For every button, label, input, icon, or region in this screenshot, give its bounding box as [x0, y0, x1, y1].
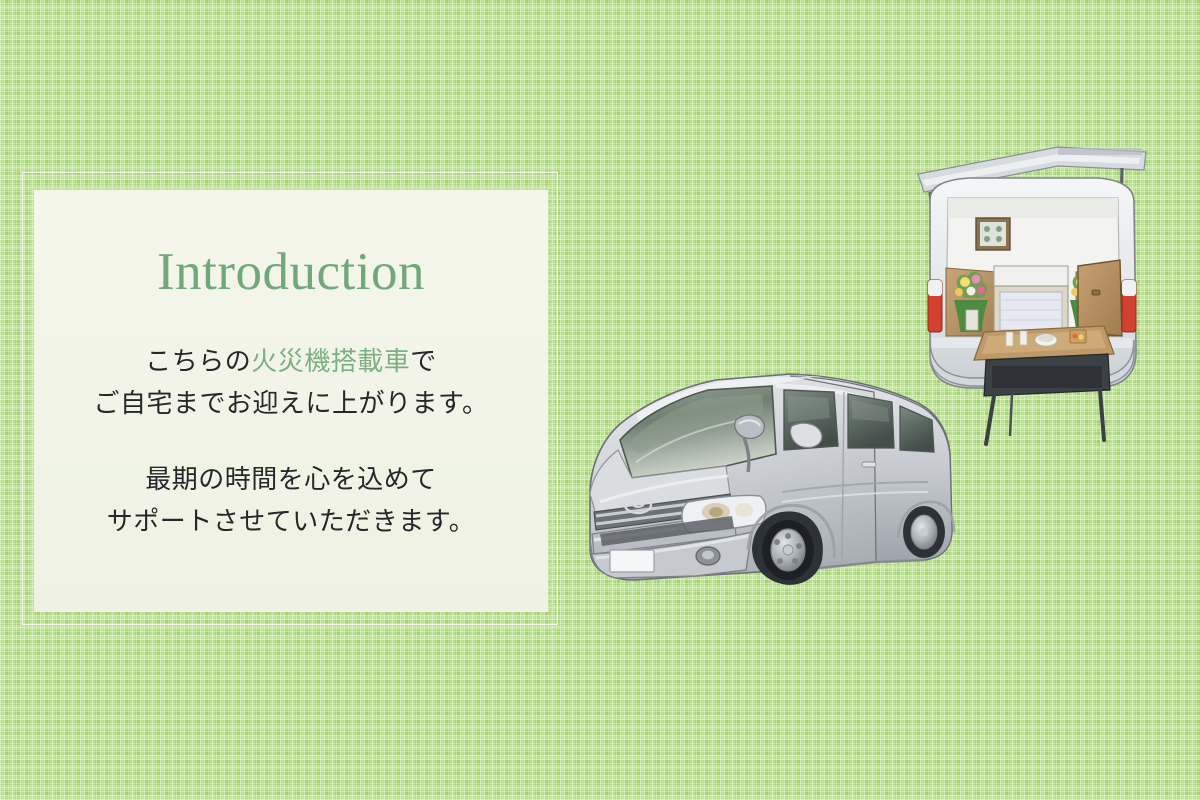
paragraph-1-line-1: こちらの火災機搭載車で	[64, 341, 518, 383]
paragraph-2-line-2: サポートさせていただきます。	[64, 501, 518, 543]
wall-picture	[976, 218, 1010, 250]
stretcher-frame	[984, 354, 1110, 444]
text-segment: で	[410, 347, 437, 377]
intro-paragraph-1: こちらの火災機搭載車で ご自宅までお迎えに上がります。	[64, 341, 518, 425]
rear-side-windows	[848, 394, 934, 452]
door-handle	[862, 462, 876, 467]
intro-paragraph-2: 最期の時間を心を込めて サポートさせていただきます。	[64, 459, 518, 543]
introduction-card: Introduction こちらの火災機搭載車で ご自宅までお迎えに上がります。…	[34, 190, 548, 612]
page-title: Introduction	[64, 246, 518, 299]
paragraph-1-line-2: ご自宅までお迎えに上がります。	[64, 383, 518, 425]
paragraph-2-line-1: 最期の時間を心を込めて	[64, 459, 518, 501]
highlighted-term: 火災機搭載車	[251, 347, 410, 377]
slide-canvas: Introduction こちらの火災機搭載車で ご自宅までお迎えに上がります。…	[0, 0, 1200, 800]
text-segment: こちらの	[145, 347, 251, 377]
license-plate	[610, 550, 654, 572]
silver-van-front-quarter-image	[576, 362, 964, 640]
front-wheel	[752, 511, 823, 585]
rear-wheel	[903, 506, 945, 558]
side-door-panel	[1078, 260, 1122, 336]
casket-platform	[994, 266, 1068, 334]
